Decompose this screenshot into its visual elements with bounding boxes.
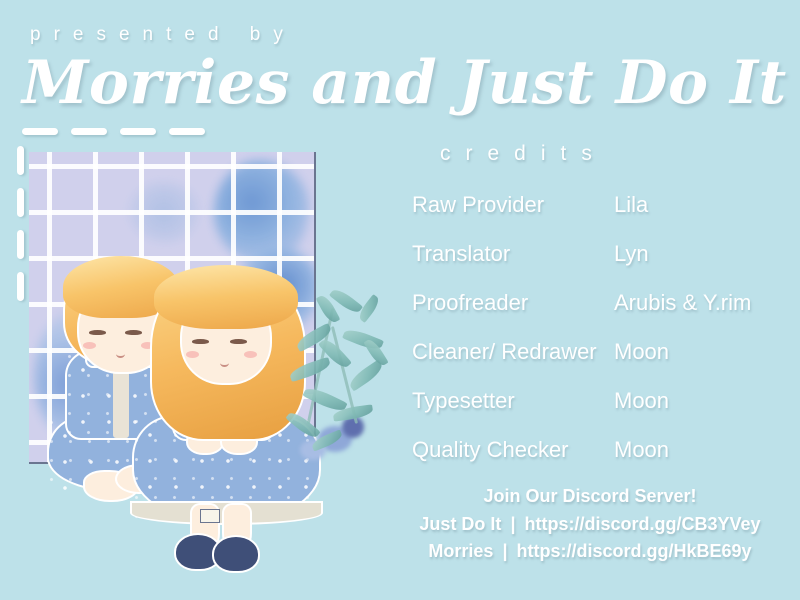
girl-eye-left	[192, 339, 209, 344]
girl-sock-tag	[200, 509, 220, 523]
girl-blush-right	[244, 351, 257, 358]
presented-by-label: presented by	[30, 24, 296, 46]
credit-row: Cleaner/ Redrawer Moon	[412, 339, 782, 388]
discord-server-name: Morries	[428, 541, 493, 561]
watercolor-foliage	[285, 285, 395, 475]
discord-block: Join Our Discord Server! Just Do It | ht…	[390, 486, 790, 568]
credits-heading: credits	[440, 142, 607, 166]
credit-name-value: Moon	[614, 388, 782, 414]
credit-name-value: Moon	[614, 437, 782, 463]
discord-separator: |	[506, 514, 519, 534]
discord-server-just-do-it: Just Do It | https://discord.gg/CB3YVey	[390, 514, 790, 535]
character-illustration	[0, 110, 400, 580]
girl-blush-left	[186, 351, 199, 358]
credit-row: Translator Lyn	[412, 241, 782, 290]
credit-role-label: Cleaner/ Redrawer	[412, 339, 614, 365]
boy-eye-left	[89, 330, 106, 335]
credit-row: Typesetter Moon	[412, 388, 782, 437]
discord-invite-link[interactable]: https://discord.gg/CB3YVey	[525, 514, 761, 534]
discord-separator: |	[498, 541, 511, 561]
discord-server-morries: Morries | https://discord.gg/HkBE69y	[390, 541, 790, 562]
credit-name-value: Arubis & Y.rim	[614, 290, 782, 316]
foliage-leaf	[285, 409, 320, 441]
credits-page: presented by Morries and Just Do It	[0, 0, 800, 600]
credit-row: Quality Checker Moon	[412, 437, 782, 486]
discord-invite-link[interactable]: https://discord.gg/HkBE69y	[517, 541, 752, 561]
credit-role-label: Proofreader	[412, 290, 614, 316]
boy-eye-right	[125, 330, 142, 335]
credit-row: Proofreader Arubis & Y.rim	[412, 290, 782, 339]
credit-role-label: Raw Provider	[412, 192, 614, 218]
credit-name-value: Lyn	[614, 241, 782, 267]
credit-name-value: Moon	[614, 339, 782, 365]
credit-row: Raw Provider Lila	[412, 192, 782, 241]
studio-title: Morries and Just Do It	[22, 48, 782, 118]
credit-role-label: Quality Checker	[412, 437, 614, 463]
boy-mouth	[116, 350, 125, 358]
foliage-leaf	[288, 357, 332, 382]
discord-invite-title: Join Our Discord Server!	[390, 486, 790, 507]
credit-name-value: Lila	[614, 192, 782, 218]
credits-table: Raw Provider Lila Translator Lyn Proofre…	[412, 192, 782, 486]
boy-blush-left	[83, 342, 96, 349]
girl-eye-right	[230, 339, 247, 344]
credit-role-label: Typesetter	[412, 388, 614, 414]
girl-hair-front	[154, 265, 298, 329]
girl-mouth	[220, 359, 229, 367]
slipper-right	[212, 535, 260, 573]
credit-role-label: Translator	[412, 241, 614, 267]
discord-server-name: Just Do It	[419, 514, 501, 534]
